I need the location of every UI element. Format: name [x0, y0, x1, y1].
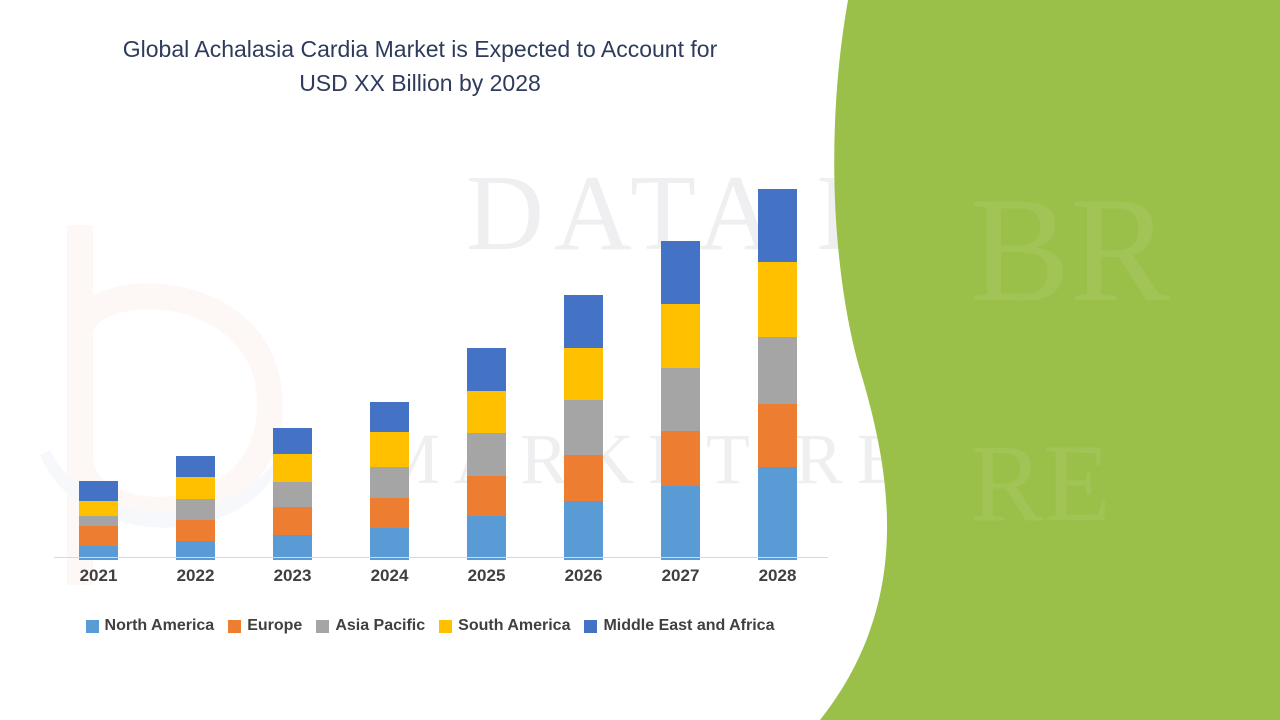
bar-segment[interactable] [176, 499, 215, 520]
legend-swatch-icon [584, 620, 597, 633]
legend-label: Asia Pacific [335, 617, 425, 635]
bar-segment[interactable] [79, 501, 118, 516]
bar-segment[interactable] [273, 428, 312, 454]
bar-segment[interactable] [370, 498, 409, 528]
legend-item-north-america[interactable]: North America [86, 617, 215, 635]
legend-label: North America [105, 617, 215, 635]
bar-segment[interactable] [758, 404, 797, 467]
bar-segment[interactable] [467, 433, 506, 476]
x-axis-line [54, 557, 828, 558]
legend-item-middle-east-and-africa[interactable]: Middle East and Africa [584, 617, 774, 635]
legend-swatch-icon [86, 620, 99, 633]
chart-title: Global Achalasia Cardia Market is Expect… [60, 32, 780, 100]
plot-area [54, 150, 834, 560]
x-tick-2025: 2025 [447, 566, 527, 586]
bar-segment[interactable] [467, 516, 506, 560]
chart-title-line1: Global Achalasia Cardia Market is Expect… [123, 36, 717, 62]
bar-group-2027[interactable] [661, 241, 700, 560]
legend-swatch-icon [316, 620, 329, 633]
legend-swatch-icon [439, 620, 452, 633]
green-panel: BR RE Global Achalasia Cardia Market, By… [820, 0, 1280, 720]
bar-segment[interactable] [370, 402, 409, 432]
bar-segment[interactable] [661, 431, 700, 486]
chart-legend: North AmericaEuropeAsia PacificSouth Ame… [0, 617, 860, 635]
svg-text:RE: RE [970, 422, 1111, 544]
bar-segment[interactable] [564, 455, 603, 501]
chart-title-line2: USD XX Billion by 2028 [299, 70, 541, 96]
bar-segment[interactable] [467, 391, 506, 433]
svg-text:BR: BR [970, 167, 1170, 333]
bar-group-2024[interactable] [370, 402, 409, 560]
bar-segment[interactable] [176, 477, 215, 499]
bar-segment[interactable] [758, 189, 797, 262]
legend-item-europe[interactable]: Europe [228, 617, 302, 635]
bar-segment[interactable] [370, 528, 409, 560]
green-panel-shape: BR RE [820, 0, 1280, 720]
legend-label: Europe [247, 617, 302, 635]
legend-swatch-icon [228, 620, 241, 633]
x-tick-2023: 2023 [253, 566, 333, 586]
bar-segment[interactable] [273, 454, 312, 482]
x-tick-2022: 2022 [156, 566, 236, 586]
bar-segment[interactable] [273, 482, 312, 507]
legend-label: South America [458, 617, 570, 635]
legend-item-asia-pacific[interactable]: Asia Pacific [316, 617, 425, 635]
x-tick-2021: 2021 [59, 566, 139, 586]
bar-segment[interactable] [564, 295, 603, 348]
bar-segment[interactable] [79, 526, 118, 546]
bar-segment[interactable] [273, 507, 312, 535]
bar-segment[interactable] [758, 337, 797, 404]
bar-segment[interactable] [661, 304, 700, 368]
bar-segment[interactable] [176, 456, 215, 477]
legend-item-south-america[interactable]: South America [439, 617, 570, 635]
bar-segment[interactable] [564, 400, 603, 455]
x-tick-2026: 2026 [544, 566, 624, 586]
bar-segment[interactable] [370, 467, 409, 498]
bar-segment[interactable] [467, 348, 506, 391]
bar-group-2025[interactable] [467, 348, 506, 560]
bar-group-2023[interactable] [273, 428, 312, 560]
bar-group-2026[interactable] [564, 295, 603, 560]
chart-panel: Global Achalasia Cardia Market is Expect… [0, 0, 860, 720]
bar-group-2022[interactable] [176, 456, 215, 560]
bar-group-2028[interactable] [758, 189, 797, 560]
bar-group-2021[interactable] [79, 481, 118, 560]
bar-segment[interactable] [661, 486, 700, 560]
bar-segment[interactable] [661, 241, 700, 304]
bar-segment[interactable] [661, 368, 700, 431]
bar-segment[interactable] [79, 516, 118, 526]
bar-segment[interactable] [370, 432, 409, 467]
x-tick-2028: 2028 [738, 566, 818, 586]
x-axis-labels: 20212022202320242025202620272028 [54, 566, 834, 596]
bar-segment[interactable] [758, 262, 797, 337]
legend-label: Middle East and Africa [603, 617, 774, 635]
bar-segment[interactable] [564, 501, 603, 560]
bar-segment[interactable] [176, 520, 215, 541]
bar-segment[interactable] [79, 481, 118, 501]
bar-segment[interactable] [564, 348, 603, 400]
x-tick-2027: 2027 [641, 566, 721, 586]
bar-segment[interactable] [758, 467, 797, 560]
bar-segment[interactable] [467, 476, 506, 516]
x-tick-2024: 2024 [350, 566, 430, 586]
